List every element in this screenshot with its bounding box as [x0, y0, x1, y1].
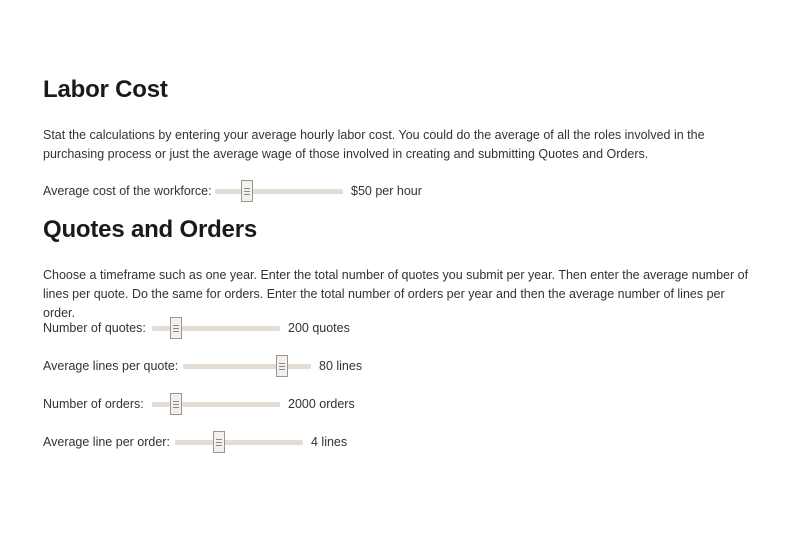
grip-line-icon [244, 188, 250, 189]
grip-line-icon [216, 439, 222, 440]
slider-row-number-of-quotes: Number of quotes: 200 quotes [43, 315, 350, 341]
grip-line-icon [173, 328, 179, 329]
slider-number-of-orders[interactable] [152, 393, 280, 415]
value-number-of-quotes: 200 quotes [288, 321, 350, 335]
value-number-of-orders: 2000 orders [288, 397, 355, 411]
slider-average-cost-of-workforce[interactable] [215, 180, 343, 202]
grip-line-icon [173, 404, 179, 405]
value-average-line-per-order: 4 lines [311, 435, 347, 449]
value-average-cost-of-workforce: $50 per hour [351, 184, 422, 198]
labor-cost-heading: Labor Cost [43, 76, 168, 105]
slider-track[interactable] [183, 364, 311, 369]
grip-line-icon [279, 366, 285, 367]
label-average-cost-of-workforce: Average cost of the workforce: [43, 184, 215, 198]
slider-handle-average-cost-of-workforce[interactable] [241, 180, 253, 202]
label-number-of-orders: Number of orders: [43, 397, 152, 411]
grip-line-icon [244, 191, 250, 192]
slider-row-average-lines-per-quote: Average lines per quote: 80 lines [43, 353, 362, 379]
grip-line-icon [279, 369, 285, 370]
slider-number-of-quotes[interactable] [152, 317, 280, 339]
slider-track[interactable] [175, 440, 303, 445]
value-average-lines-per-quote: 80 lines [319, 359, 362, 373]
slider-row-average-cost-of-workforce: Average cost of the workforce: $50 per h… [43, 178, 422, 204]
grip-line-icon [279, 363, 285, 364]
slider-handle-number-of-orders[interactable] [170, 393, 182, 415]
grip-line-icon [244, 194, 250, 195]
grip-line-icon [173, 325, 179, 326]
slider-row-number-of-orders: Number of orders: 2000 orders [43, 391, 355, 417]
slider-average-line-per-order[interactable] [175, 431, 303, 453]
label-number-of-quotes: Number of quotes: [43, 321, 152, 335]
quotes-and-orders-heading: Quotes and Orders [43, 216, 257, 245]
grip-line-icon [173, 401, 179, 402]
slider-handle-average-line-per-order[interactable] [213, 431, 225, 453]
grip-line-icon [173, 331, 179, 332]
labor-cost-description: Stat the calculations by entering your a… [43, 126, 757, 164]
label-average-line-per-order: Average line per order: [43, 435, 175, 449]
slider-track[interactable] [215, 189, 343, 194]
slider-row-average-line-per-order: Average line per order: 4 lines [43, 429, 347, 455]
grip-line-icon [216, 442, 222, 443]
slider-average-lines-per-quote[interactable] [183, 355, 311, 377]
slider-handle-average-lines-per-quote[interactable] [276, 355, 288, 377]
grip-line-icon [173, 407, 179, 408]
calculator-page: Labor Cost Stat the calculations by ente… [0, 0, 800, 533]
grip-line-icon [216, 445, 222, 446]
label-average-lines-per-quote: Average lines per quote: [43, 359, 183, 373]
slider-handle-number-of-quotes[interactable] [170, 317, 182, 339]
